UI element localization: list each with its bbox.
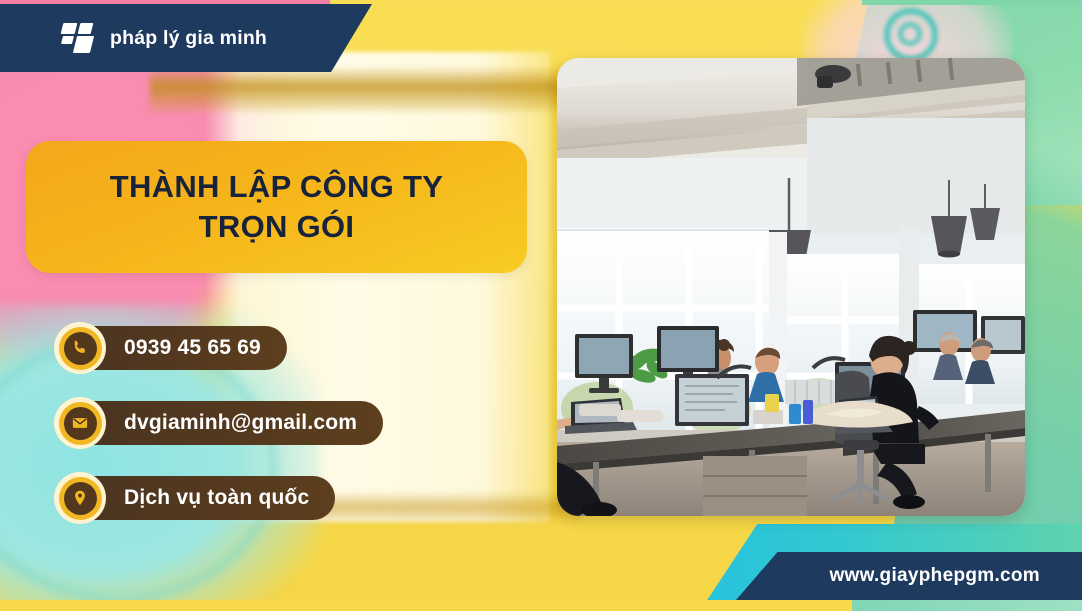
map-pin-icon xyxy=(54,472,106,524)
brand-header: pháp lý gia minh xyxy=(0,4,372,72)
teal-spiral-decoration xyxy=(884,8,938,62)
envelope-icon xyxy=(54,397,106,449)
footer-bar: www.giayphepgm.com xyxy=(736,552,1082,600)
contact-item-phone[interactable]: 0939 45 65 69 xyxy=(68,322,383,374)
website-url[interactable]: www.giayphepgm.com xyxy=(829,565,1040,587)
headline-card: THÀNH LẬP CÔNG TY TRỌN GÓI xyxy=(26,141,527,273)
contact-list: 0939 45 65 69 dvgiaminh@gmail.com xyxy=(68,322,383,547)
office-photo xyxy=(557,58,1025,516)
contact-item-coverage[interactable]: Dịch vụ toàn quốc xyxy=(68,472,383,524)
phone-icon xyxy=(54,322,106,374)
headline-line-1: THÀNH LẬP CÔNG TY xyxy=(110,167,443,207)
top-strip-green-decoration xyxy=(862,0,1082,5)
footer-bottom-green-strip xyxy=(852,600,1082,611)
gold-streak-decoration xyxy=(150,66,570,112)
headline-line-2: TRỌN GÓI xyxy=(199,207,355,247)
contact-label-email: dvgiaminh@gmail.com xyxy=(68,401,383,445)
brand-name: pháp lý gia minh xyxy=(110,27,267,50)
contact-item-email[interactable]: dvgiaminh@gmail.com xyxy=(68,397,383,449)
contact-label-coverage: Dịch vụ toàn quốc xyxy=(68,476,335,520)
promotional-banner: pháp lý gia minh THÀNH LẬP CÔNG TY TRỌN … xyxy=(0,0,1082,611)
parallelogram-blocks-logo-icon xyxy=(62,23,96,53)
